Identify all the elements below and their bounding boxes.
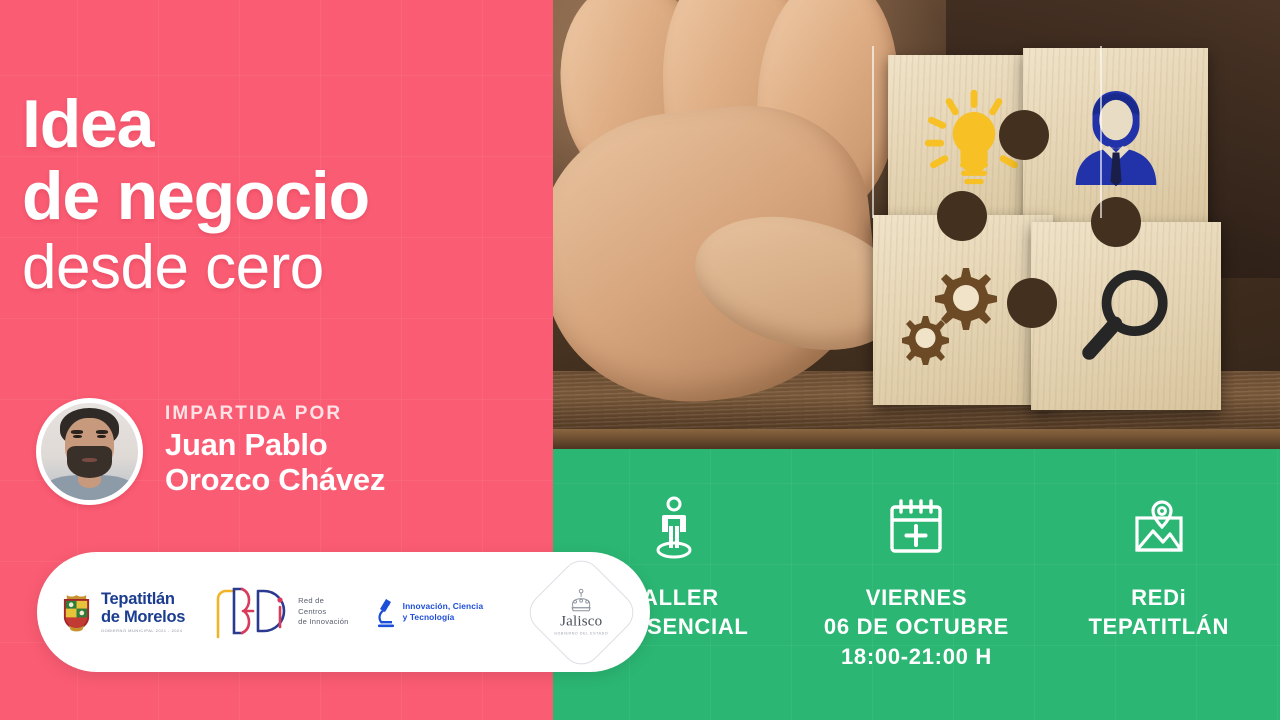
tepatitlan-line-1: Tepatitlán (101, 591, 185, 609)
info-line: 18:00-21:00 H (824, 642, 1009, 671)
logo-redi: Red de Centros de Innovación (212, 585, 349, 639)
logo-jalisco: Jalisco GOBIERNO DEL ESTADO (539, 570, 624, 655)
tepatitlan-text: Tepatitlán de Morelos GOBIERNO MUNICIPAL… (101, 591, 185, 633)
calendar-plus-icon (887, 495, 945, 561)
jalisco-diamond: Jalisco GOBIERNO DEL ESTADO (521, 552, 641, 672)
map-location-icon (1128, 495, 1190, 561)
info-divider (1100, 46, 1102, 218)
info-divider (872, 46, 874, 218)
avatar (36, 398, 143, 505)
speaker-text: IMPARTIDA POR Juan Pablo Orozco Chávez (165, 403, 385, 499)
info-lines-date: VIERNES 06 DE OCTUBRE 18:00-21:00 H (824, 583, 1009, 671)
speaker-block: IMPARTIDA POR Juan Pablo Orozco Chávez (36, 398, 385, 505)
logo-tepatitlan: Tepatitlán de Morelos GOBIERNO MUNICIPAL… (61, 591, 185, 633)
info-column-date: VIERNES 06 DE OCTUBRE 18:00-21:00 H (795, 495, 1037, 671)
ict-line-1: Innovación, Ciencia (403, 601, 484, 612)
logo-innovacion-ciencia-tecnologia: Innovación, Ciencia y Tecnología (375, 596, 484, 628)
redi-text: Red de Centros de Innovación (298, 596, 349, 628)
info-line: TEPATITLÁN (1089, 612, 1230, 641)
avatar-photo (41, 403, 138, 500)
info-lines-location: REDi TEPATITLÁN (1089, 583, 1230, 642)
redi-mark-icon (212, 585, 288, 639)
microscope-icon (375, 596, 396, 628)
ict-line-2: y Tecnología (403, 612, 484, 623)
jalisco-subtitle: GOBIERNO DEL ESTADO (554, 631, 608, 635)
puzzle-piece-magnifier (1031, 222, 1221, 410)
table-edge (553, 429, 1280, 449)
tepatitlan-crest-icon (61, 593, 92, 632)
speaker-name-line-2: Orozco Chávez (165, 463, 385, 498)
standing-person-icon (646, 495, 702, 561)
title-line-2: de negocio (22, 164, 542, 230)
redi-line-1: Red de (298, 596, 349, 607)
crown-icon (568, 588, 594, 612)
hero-photo (553, 0, 1280, 449)
title-line-1: Idea (22, 92, 542, 158)
info-line: 06 DE OCTUBRE (824, 612, 1009, 641)
redi-line-2: Centros (298, 607, 349, 618)
ict-text: Innovación, Ciencia y Tecnología (403, 601, 484, 624)
info-line: REDi (1089, 583, 1230, 612)
title-line-3: desde cero (22, 238, 542, 298)
info-columns: TALLER PRESENCIAL (553, 449, 1280, 720)
redi-line-3: de Innovación (298, 617, 349, 628)
logo-bar: Tepatitlán de Morelos GOBIERNO MUNICIPAL… (37, 552, 650, 672)
magnifying-glass-icon (1031, 222, 1221, 410)
tepatitlan-line-2: de Morelos (101, 609, 185, 627)
speaker-label: IMPARTIDA POR (165, 403, 385, 425)
speaker-name-line-1: Juan Pablo (165, 428, 385, 463)
poster-canvas: Idea de negocio desde cero IMPARTIDA POR… (0, 0, 1280, 720)
tepatitlan-subtitle: GOBIERNO MUNICIPAL 2021 - 2024 (101, 629, 185, 633)
jalisco-name: Jalisco (554, 613, 608, 630)
info-column-location: REDi TEPATITLÁN (1038, 495, 1280, 642)
info-line: VIERNES (824, 583, 1009, 612)
page-title: Idea de negocio desde cero (22, 92, 542, 298)
green-info-panel: TALLER PRESENCIAL (553, 449, 1280, 720)
